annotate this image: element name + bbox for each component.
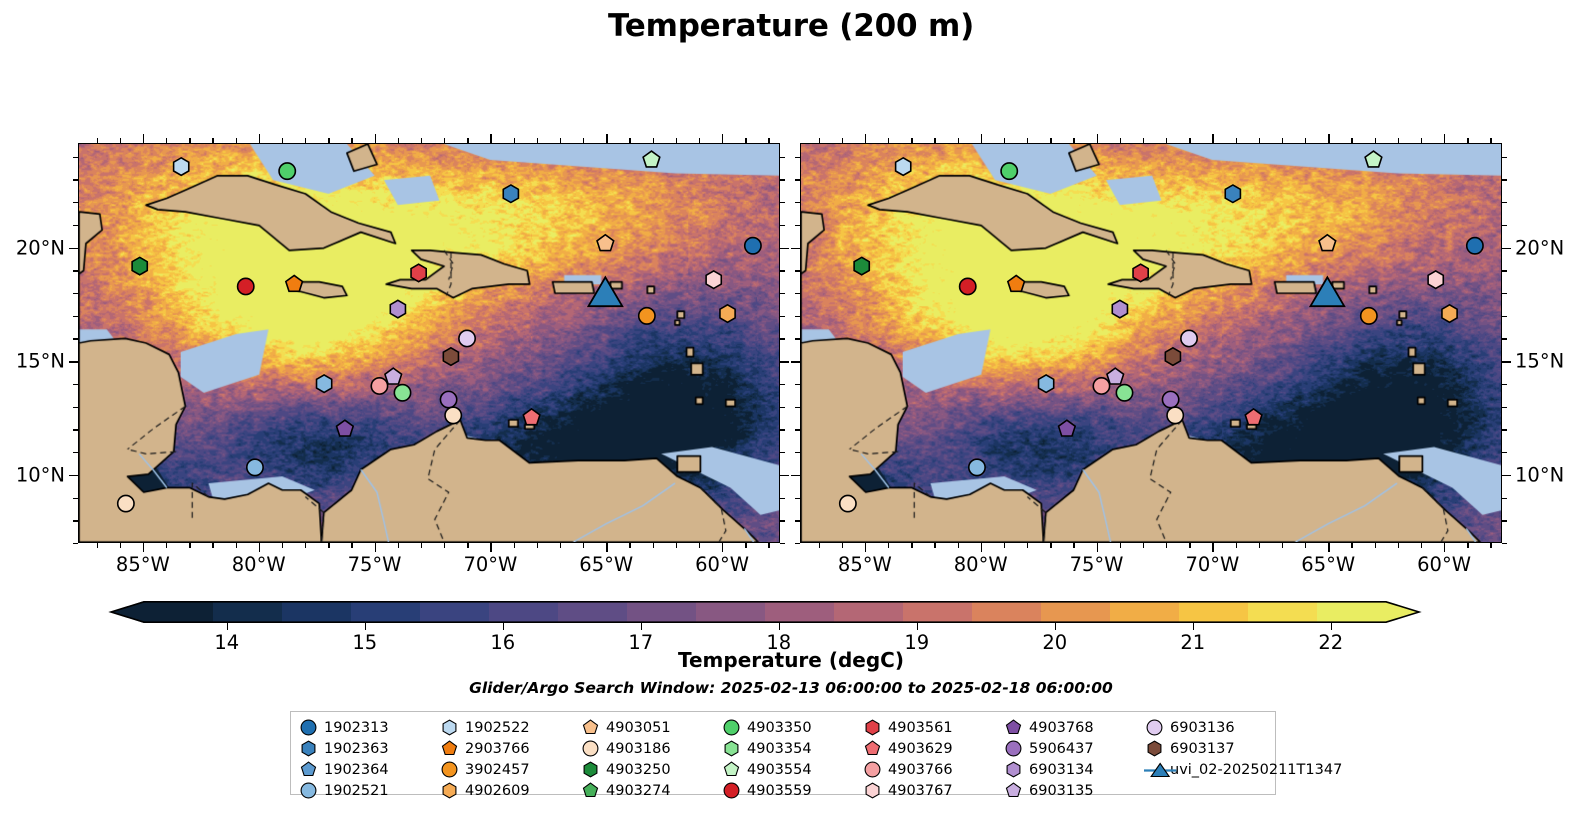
x-tick <box>1490 543 1491 548</box>
search-window-subtitle: Glider/Argo Search Window: 2025-02-13 06… <box>0 679 1582 697</box>
legend-grid: 1902313190252249030514903350490356149037… <box>300 717 1287 801</box>
x-tick <box>97 543 98 548</box>
y-tick-right <box>780 361 789 362</box>
legend-label: 1902363 <box>324 741 389 757</box>
figure-title: Temperature (200 m) <box>0 8 1582 44</box>
legend-label: 4903767 <box>888 783 953 799</box>
legend-item[interactable]: 4903561 <box>864 717 1005 738</box>
float-hexagon-icon <box>864 782 881 799</box>
x-tick <box>958 543 959 548</box>
x-tick <box>1282 543 1283 548</box>
colorbar-segment <box>144 601 214 623</box>
y-tick-right <box>1502 429 1507 430</box>
colorbar-tick <box>917 623 918 630</box>
x-tick <box>1143 543 1144 548</box>
y-tick-right <box>780 316 785 317</box>
x-tick-label: 60°W <box>695 553 749 576</box>
x-tick <box>699 543 700 548</box>
argo-float-marker <box>1059 420 1076 436</box>
x-tick <box>351 543 352 548</box>
y-tick-left <box>791 248 800 249</box>
marker-overlay-rtofs <box>79 144 779 542</box>
legend-label: 1902521 <box>324 783 389 799</box>
argo-float-marker <box>337 420 354 436</box>
x-tick <box>583 543 584 548</box>
argo-float-marker <box>443 348 458 366</box>
argo-float-marker <box>969 459 985 475</box>
colorbar-tick <box>1193 623 1194 630</box>
y-tick-right <box>1502 293 1507 294</box>
x-tick-label: 70°W <box>1185 553 1239 576</box>
legend-label: 1902364 <box>324 762 389 778</box>
colorbar[interactable]: 141516171819202122 <box>110 601 1420 623</box>
argo-float-marker <box>1467 238 1483 254</box>
legend-label: 2903766 <box>465 741 530 757</box>
x-tick <box>398 543 399 548</box>
argo-float-marker <box>238 278 254 294</box>
x-tick-label: 75°W <box>348 553 402 576</box>
argo-float-marker <box>1116 385 1132 401</box>
argo-float-marker <box>317 375 332 393</box>
y-tick-right <box>780 543 785 544</box>
x-tick-label: 80°W <box>954 553 1008 576</box>
legend-item[interactable]: 5906437 <box>1005 738 1146 759</box>
x-tick <box>1189 543 1190 548</box>
legend-item[interactable]: 4903767 <box>864 780 1005 801</box>
legend[interactable]: 1902313190252249030514903350490356149037… <box>290 711 1276 795</box>
legend-item[interactable]: 4903186 <box>582 738 723 759</box>
legend-item[interactable]: 4903350 <box>723 717 864 738</box>
argo-float-marker <box>1319 235 1336 251</box>
legend-item[interactable]: 4903250 <box>582 759 723 780</box>
float-pentagon-icon <box>723 761 740 778</box>
colorbar-segment <box>282 601 352 623</box>
y-tick-right <box>780 270 785 271</box>
float-circle-icon <box>300 719 317 736</box>
y-tick-label: 15°N <box>1515 350 1564 373</box>
x-tick <box>981 543 982 552</box>
legend-label: uvi_02-20250211T1347 <box>1170 762 1342 778</box>
x-tick <box>1166 543 1167 548</box>
argo-float-marker <box>1001 163 1017 179</box>
y-tick-right <box>780 407 785 408</box>
float-pentagon-icon <box>1005 782 1022 799</box>
float-circle-icon <box>864 761 881 778</box>
float-hexagon-icon <box>582 761 599 778</box>
x-tick <box>1398 543 1399 548</box>
argo-float-marker <box>390 300 405 318</box>
float-circle-icon <box>723 782 740 799</box>
argo-float-marker <box>1181 330 1197 346</box>
legend-label: 4903561 <box>888 720 953 736</box>
y-tick-right <box>1502 475 1511 476</box>
y-tick-right <box>780 452 785 453</box>
glider-marker <box>588 277 622 306</box>
colorbar-segment <box>1248 601 1318 623</box>
x-tick <box>1444 543 1445 552</box>
legend-item[interactable]: 1902313 <box>300 717 441 738</box>
y-tick-label: 20°N <box>1515 236 1564 259</box>
argo-float-marker <box>1162 391 1178 407</box>
argo-float-marker <box>286 275 303 291</box>
x-tick <box>1097 543 1098 552</box>
legend-item[interactable]: 3902457 <box>441 759 582 780</box>
legend-label: 4903051 <box>606 720 671 736</box>
colorbar-segment <box>558 601 628 623</box>
argo-float-marker <box>247 459 263 475</box>
y-tick-right <box>780 202 785 203</box>
x-tick <box>1328 543 1329 552</box>
legend-label: 6903135 <box>1029 783 1094 799</box>
x-tick <box>768 543 769 548</box>
argo-float-marker <box>279 163 295 179</box>
x-tick <box>421 543 422 548</box>
argo-float-marker <box>445 407 461 423</box>
argo-float-marker <box>1225 185 1240 203</box>
x-tick <box>1421 543 1422 548</box>
legend-item[interactable]: 4903554 <box>723 759 864 780</box>
map-panel-espc[interactable]: ESPC - 2025-02-18 06:00:00 <box>800 143 1502 543</box>
y-tick-right <box>780 520 785 521</box>
colorbar-tick <box>641 623 642 630</box>
x-tick-label: 70°W <box>463 553 517 576</box>
x-tick <box>305 543 306 548</box>
x-tick-label: 75°W <box>1070 553 1124 576</box>
y-tick-right <box>1502 407 1507 408</box>
float-pentagon-icon <box>441 740 458 757</box>
x-tick <box>212 543 213 548</box>
legend-label: 4903559 <box>747 783 812 799</box>
legend-item[interactable]: 4902609 <box>441 780 582 801</box>
x-tick <box>865 543 866 552</box>
y-tick-left <box>795 543 800 544</box>
legend-item[interactable]: 1902521 <box>300 780 441 801</box>
x-tick-top <box>375 134 376 143</box>
x-tick <box>1050 543 1051 548</box>
argo-float-marker <box>503 185 518 203</box>
colorbar-min-extend <box>110 601 144 623</box>
legend-label: 6903134 <box>1029 762 1094 778</box>
argo-float-marker <box>1093 378 1109 394</box>
x-tick-label: 65°W <box>1301 553 1355 576</box>
y-tick-label: 20°N <box>16 236 65 259</box>
x-tick <box>1004 543 1005 548</box>
argo-float-marker <box>745 238 761 254</box>
legend-item[interactable]: 4903051 <box>582 717 723 738</box>
y-tick-right <box>1502 384 1507 385</box>
legend-label: 6903137 <box>1170 741 1235 757</box>
x-tick <box>629 543 630 548</box>
x-tick <box>1120 543 1121 548</box>
colorbar-segment <box>696 601 766 623</box>
float-circle-icon <box>300 782 317 799</box>
y-tick-right <box>1502 452 1507 453</box>
argo-float-marker <box>706 271 721 289</box>
y-tick-label: 15°N <box>16 350 65 373</box>
legend-item[interactable]: 4903768 <box>1005 717 1146 738</box>
y-tick-right <box>780 225 785 226</box>
y-tick-right <box>780 248 789 249</box>
colorbar-label: Temperature (degC) <box>0 648 1582 672</box>
x-tick <box>259 543 260 552</box>
x-tick-top <box>490 134 491 143</box>
y-tick-left <box>73 543 78 544</box>
legend-item[interactable]: 1902363 <box>300 738 441 759</box>
float-hexagon-icon <box>441 719 458 736</box>
legend-item[interactable]: 4903354 <box>723 738 864 759</box>
colorbar-tick <box>365 623 366 630</box>
legend-label: 4902609 <box>465 783 530 799</box>
colorbar-max-extend <box>1386 601 1420 623</box>
x-tick <box>467 543 468 548</box>
y-tick-right <box>1502 316 1507 317</box>
y-tick-right <box>780 384 785 385</box>
y-tick-right <box>780 498 785 499</box>
argo-float-marker <box>960 278 976 294</box>
colorbar-segment <box>351 601 421 623</box>
y-tick-right <box>1502 248 1511 249</box>
argo-float-marker <box>1361 308 1377 324</box>
x-tick <box>676 543 677 548</box>
y-tick-left <box>69 361 78 362</box>
x-tick <box>911 543 912 548</box>
colorbar-segment <box>1179 601 1249 623</box>
x-tick-top <box>143 134 144 143</box>
float-pentagon-icon <box>864 740 881 757</box>
colorbar-segment <box>489 601 559 623</box>
legend-label: 4903766 <box>888 762 953 778</box>
legend-label: 4903274 <box>606 783 671 799</box>
legend-label: 1902313 <box>324 720 389 736</box>
y-tick-right <box>1502 361 1511 362</box>
x-tick <box>1467 543 1468 548</box>
x-tick-top <box>1212 134 1213 143</box>
argo-float-marker <box>1245 409 1262 425</box>
x-tick <box>514 543 515 548</box>
argo-float-marker <box>1428 271 1443 289</box>
colorbar-segment <box>420 601 490 623</box>
float-circle-icon <box>582 740 599 757</box>
y-tick-right <box>1502 270 1507 271</box>
y-tick-right <box>1502 520 1507 521</box>
y-tick-left <box>791 475 800 476</box>
x-tick <box>490 543 491 552</box>
map-panel-rtofs[interactable]: RTOFS - 2025-02-18 06:00:00 <box>78 143 780 543</box>
x-tick-top <box>865 134 866 143</box>
y-tick-left <box>69 248 78 249</box>
argo-float-marker <box>394 385 410 401</box>
legend-item[interactable]: 6903136 <box>1146 717 1287 738</box>
float-hexagon-icon <box>864 719 881 736</box>
x-tick <box>888 543 889 548</box>
float-circle-icon <box>1005 740 1022 757</box>
colorbar-tick <box>779 623 780 630</box>
y-tick-right <box>1502 157 1507 158</box>
x-tick <box>189 543 190 548</box>
legend-item[interactable]: 1902522 <box>441 717 582 738</box>
argo-float-marker <box>643 151 660 167</box>
argo-float-marker <box>1008 275 1025 291</box>
y-tick-left <box>69 475 78 476</box>
float-circle-icon <box>1146 719 1163 736</box>
legend-label: 3902457 <box>465 762 530 778</box>
y-tick-right <box>780 157 785 158</box>
legend-label: 4903350 <box>747 720 812 736</box>
legend-label: 4903250 <box>606 762 671 778</box>
legend-label: 1902522 <box>465 720 530 736</box>
y-tick-right <box>780 338 785 339</box>
x-tick <box>1236 543 1237 548</box>
y-tick-right <box>1502 338 1507 339</box>
x-tick-label: 65°W <box>579 553 633 576</box>
colorbar-tick <box>1055 623 1056 630</box>
legend-label: 5906437 <box>1029 741 1094 757</box>
legend-empty <box>1146 780 1287 801</box>
x-tick-label: 85°W <box>116 553 170 576</box>
x-tick <box>375 543 376 552</box>
argo-float-marker <box>1107 368 1124 384</box>
legend-label: 6903136 <box>1170 720 1235 736</box>
argo-float-marker <box>597 235 614 251</box>
argo-float-marker <box>174 158 189 176</box>
colorbar-tick <box>1331 623 1332 630</box>
y-tick-right <box>780 179 785 180</box>
legend-label: 4903629 <box>888 741 953 757</box>
argo-float-marker <box>720 305 735 323</box>
x-tick-top <box>1328 134 1329 143</box>
argo-float-marker <box>854 257 869 275</box>
glider-marker <box>1310 277 1344 306</box>
x-tick-label: 60°W <box>1417 553 1471 576</box>
float-pentagon-icon <box>1005 719 1022 736</box>
argo-float-marker <box>1167 407 1183 423</box>
argo-float-marker <box>132 257 147 275</box>
legend-item[interactable]: 4903274 <box>582 780 723 801</box>
colorbar-gradient <box>144 601 1386 623</box>
argo-float-marker <box>639 308 655 324</box>
x-tick <box>236 543 237 548</box>
x-tick <box>819 543 820 548</box>
y-tick-label: 10°N <box>16 463 65 486</box>
x-tick <box>722 543 723 552</box>
float-hexagon-icon <box>300 740 317 757</box>
float-pentagon-icon <box>582 719 599 736</box>
legend-item[interactable]: 4903766 <box>864 759 1005 780</box>
y-tick-label: 10°N <box>1515 463 1564 486</box>
y-tick-right <box>1502 498 1507 499</box>
legend-item[interactable]: uvi_02-20250211T1347 <box>1146 759 1287 780</box>
x-tick <box>143 543 144 552</box>
argo-float-marker <box>385 368 402 384</box>
x-tick <box>842 543 843 548</box>
x-tick-label: 80°W <box>232 553 286 576</box>
colorbar-segment <box>213 601 283 623</box>
x-tick <box>1212 543 1213 552</box>
argo-float-marker <box>371 378 387 394</box>
x-tick <box>537 543 538 548</box>
colorbar-segment <box>1041 601 1111 623</box>
argo-float-marker <box>1133 264 1148 282</box>
legend-item[interactable]: 4903559 <box>723 780 864 801</box>
argo-float-marker <box>896 158 911 176</box>
float-hexagon-icon <box>1005 761 1022 778</box>
legend-item[interactable]: 2903766 <box>441 738 582 759</box>
float-circle-icon <box>723 719 740 736</box>
legend-item[interactable]: 6903137 <box>1146 738 1287 759</box>
argo-float-marker <box>118 495 134 511</box>
argo-float-marker <box>840 495 856 511</box>
x-tick-top <box>259 134 260 143</box>
legend-item[interactable]: 6903134 <box>1005 759 1146 780</box>
x-tick <box>1375 543 1376 548</box>
y-tick-right <box>1502 202 1507 203</box>
y-tick-right <box>1502 225 1507 226</box>
y-tick-right <box>1502 179 1507 180</box>
legend-item[interactable]: 4903629 <box>864 738 1005 759</box>
argo-float-marker <box>440 391 456 407</box>
argo-float-marker <box>1165 348 1180 366</box>
legend-label: 4903554 <box>747 762 812 778</box>
y-tick-right <box>780 475 789 476</box>
x-tick-top <box>1444 134 1445 143</box>
x-tick <box>282 543 283 548</box>
colorbar-tick <box>227 623 228 630</box>
legend-item[interactable]: 6903135 <box>1005 780 1146 801</box>
x-tick <box>1027 543 1028 548</box>
legend-item[interactable]: 1902364 <box>300 759 441 780</box>
y-tick-right <box>1502 543 1507 544</box>
x-tick <box>1073 543 1074 548</box>
x-tick-top <box>606 134 607 143</box>
x-tick <box>120 543 121 548</box>
legend-label: 4903354 <box>747 741 812 757</box>
x-tick-label: 85°W <box>838 553 892 576</box>
x-tick <box>166 543 167 548</box>
colorbar-tick <box>503 623 504 630</box>
argo-float-marker <box>411 264 426 282</box>
x-tick <box>1351 543 1352 548</box>
argo-float-marker <box>523 409 540 425</box>
x-tick <box>328 543 329 548</box>
argo-float-marker <box>1365 151 1382 167</box>
x-tick <box>444 543 445 548</box>
x-tick <box>606 543 607 552</box>
x-tick <box>934 543 935 548</box>
x-tick <box>1305 543 1306 548</box>
x-tick-top <box>981 134 982 143</box>
float-pentagon-icon <box>300 761 317 778</box>
marker-overlay-espc <box>801 144 1501 542</box>
float-pentagon-icon <box>582 782 599 799</box>
float-hexagon-icon <box>441 782 458 799</box>
argo-float-marker <box>1112 300 1127 318</box>
legend-label: 4903768 <box>1029 720 1094 736</box>
x-tick <box>1259 543 1260 548</box>
colorbar-segment <box>972 601 1042 623</box>
colorbar-segment <box>765 601 835 623</box>
colorbar-segment <box>834 601 904 623</box>
legend-label: 4903186 <box>606 741 671 757</box>
x-tick <box>560 543 561 548</box>
float-circle-icon <box>441 761 458 778</box>
float-hexagon-icon <box>1146 740 1163 757</box>
argo-float-marker <box>1039 375 1054 393</box>
colorbar-segment <box>627 601 697 623</box>
colorbar-segment <box>1110 601 1180 623</box>
x-tick <box>745 543 746 548</box>
argo-float-marker <box>459 330 475 346</box>
x-tick <box>653 543 654 548</box>
